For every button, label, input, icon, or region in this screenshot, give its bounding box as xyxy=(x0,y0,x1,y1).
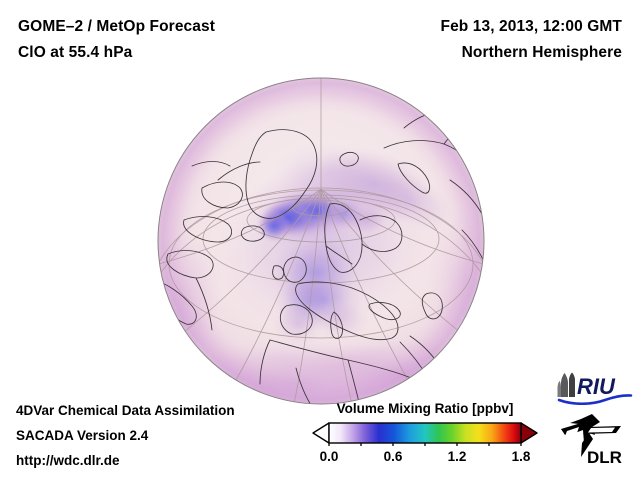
colorbar-tick-label: 1.8 xyxy=(512,449,531,464)
colorbar-under-arrow xyxy=(313,423,329,443)
dlr-logo: DLR xyxy=(559,413,631,469)
riu-spires-icon xyxy=(558,373,576,398)
logo-group: RIU DLR xyxy=(553,371,637,477)
footer-line-version: SACADA Version 2.4 xyxy=(16,428,148,443)
orthographic-globe xyxy=(148,68,494,416)
footer-line-assimilation: 4DVar Chemical Data Assimilation xyxy=(16,403,235,418)
colorbar-legend: Volume Mixing Ratio [ppbv] 0.00.61.21.8 xyxy=(311,401,539,475)
footer-line-url[interactable]: http://wdc.dlr.de xyxy=(16,453,120,468)
colorbar-body xyxy=(329,423,521,443)
hemisphere-label: Northern Hemisphere xyxy=(462,44,622,62)
colorbar-title: Volume Mixing Ratio [ppbv] xyxy=(311,401,539,416)
colorbar-gradient xyxy=(311,420,539,446)
riu-logo: RIU xyxy=(557,371,633,405)
riu-wordmark: RIU xyxy=(577,374,616,399)
globe-map-panel xyxy=(148,68,494,416)
colorbar-tick-label: 0.6 xyxy=(384,449,403,464)
colorbar-over-arrow xyxy=(521,423,537,443)
species-level-label: ClO at 55.4 hPa xyxy=(18,44,132,62)
colorbar-tick-label: 0.0 xyxy=(320,449,339,464)
colorbar-tick-labels: 0.00.61.21.8 xyxy=(311,449,539,469)
page-title: GOME–2 / MetOp Forecast xyxy=(18,18,215,36)
forecast-date-label: Feb 13, 2013, 12:00 GMT xyxy=(441,18,623,36)
colorbar-tick-label: 1.2 xyxy=(448,449,467,464)
dlr-wordmark: DLR xyxy=(587,448,622,467)
